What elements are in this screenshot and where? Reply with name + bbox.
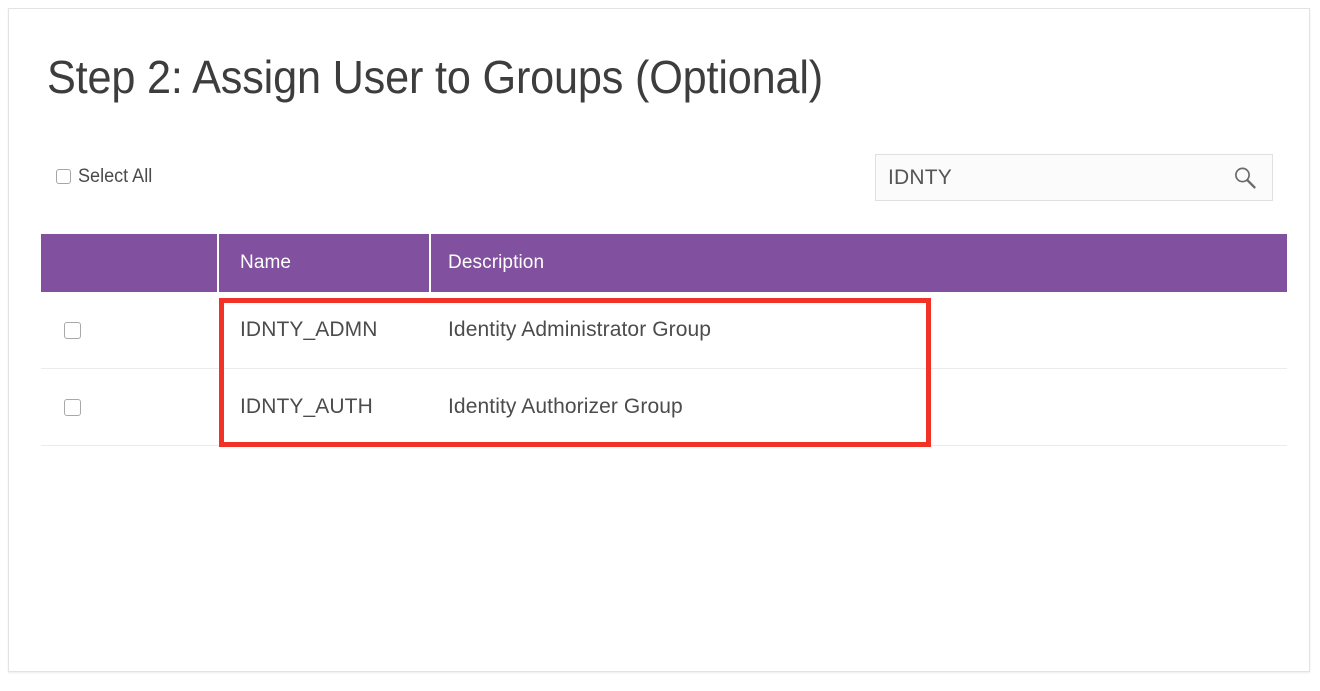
select-all-checkbox[interactable] [56, 169, 71, 184]
select-all-label: Select All [78, 167, 152, 186]
groups-table: Name Description IDNTY_ADMN Identity Adm… [41, 234, 1287, 446]
row-description: Identity Administrator Group [431, 292, 1287, 368]
select-all-control[interactable]: Select All [56, 167, 156, 186]
row-description: Identity Authorizer Group [431, 369, 1287, 445]
row-name: IDNTY_AUTH [219, 369, 431, 445]
table-row[interactable]: IDNTY_ADMN Identity Administrator Group [41, 292, 1287, 369]
search-box[interactable] [875, 154, 1273, 201]
column-header-description: Description [431, 234, 1287, 292]
table-header-row: Name Description [41, 234, 1287, 292]
column-header-checkbox [41, 234, 219, 292]
row-name: IDNTY_ADMN [219, 292, 431, 368]
row-checkbox-cell[interactable] [41, 292, 219, 368]
table-row[interactable]: IDNTY_AUTH Identity Authorizer Group [41, 369, 1287, 446]
row-checkbox[interactable] [64, 322, 81, 339]
row-checkbox-cell[interactable] [41, 369, 219, 445]
wizard-card: Step 2: Assign User to Groups (Optional)… [8, 8, 1310, 672]
page-title: Step 2: Assign User to Groups (Optional) [47, 50, 823, 104]
column-header-name: Name [219, 234, 431, 292]
search-input[interactable] [876, 155, 1208, 200]
row-checkbox[interactable] [64, 399, 81, 416]
search-icon[interactable] [1232, 165, 1258, 191]
